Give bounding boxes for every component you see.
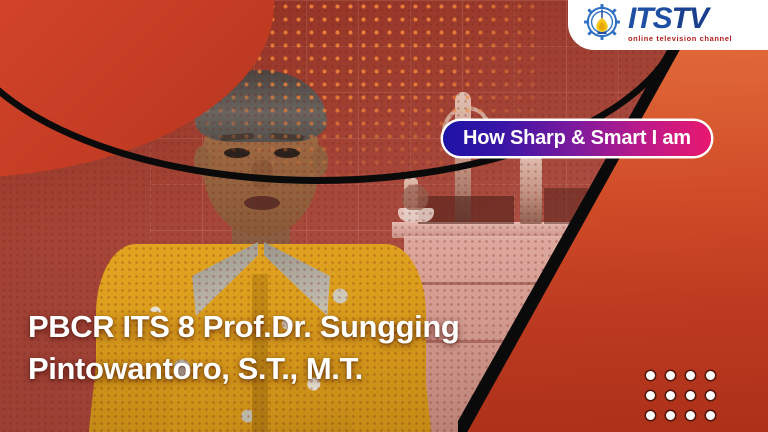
video-title-line-1: PBCR ITS 8 Prof.Dr. Sungging: [28, 306, 588, 348]
grid-dot: [706, 391, 715, 400]
logo-words: ITS TV: [628, 4, 708, 34]
logo-its-text: ITS: [628, 4, 672, 34]
grid-dot: [666, 391, 675, 400]
grid-dot: [706, 371, 715, 380]
trophy-medium: [520, 152, 542, 224]
its-tv-logo[interactable]: ITS TV online television channel: [568, 0, 768, 50]
grid-dot: [646, 391, 655, 400]
show-title-badge[interactable]: How Sharp & Smart I am: [443, 121, 711, 156]
logo-tagline: online television channel: [628, 35, 732, 43]
video-title: PBCR ITS 8 Prof.Dr. Sungging Pintowantor…: [28, 306, 588, 390]
grid-dot: [666, 411, 675, 420]
dot-grid-decoration: [646, 371, 715, 420]
grid-dot: [666, 371, 675, 380]
video-title-line-2: Pintowantoro, S.T., M.T.: [28, 348, 588, 390]
grid-dot: [686, 371, 695, 380]
logo-wordmark: ITS TV online television channel: [628, 4, 732, 43]
grid-dot: [686, 391, 695, 400]
video-thumbnail: ITS TV online television channel How Sha…: [0, 0, 768, 432]
grid-dot: [646, 371, 655, 380]
grid-dot: [646, 411, 655, 420]
show-title-badge-label: How Sharp & Smart I am: [463, 127, 691, 150]
logo-tv-text: TV: [672, 4, 708, 34]
mouth: [244, 196, 280, 210]
grid-dot: [686, 411, 695, 420]
its-gear-torch-emblem-icon: [582, 2, 622, 42]
grid-dot: [706, 411, 715, 420]
